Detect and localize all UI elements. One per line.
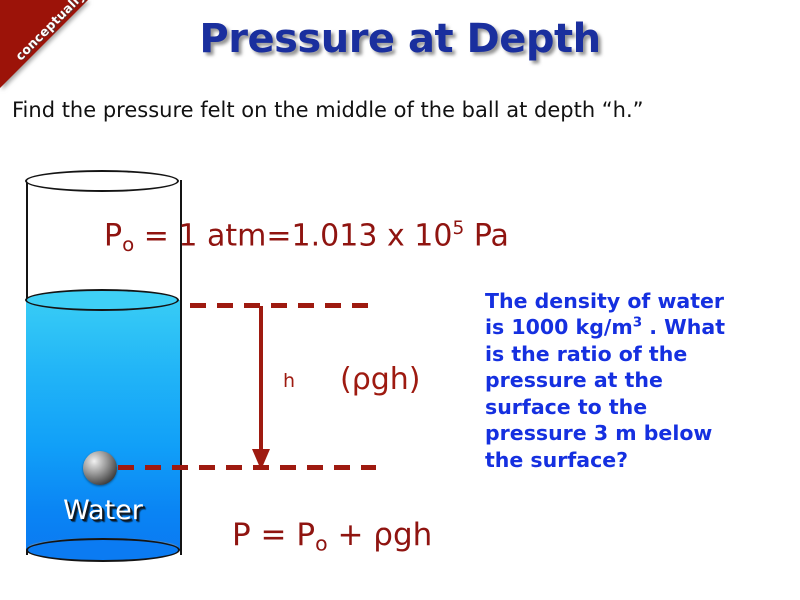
cylinder-top-rim (25, 170, 179, 192)
slide-canvas: conceptually Pressure at Depth Find the … (0, 0, 800, 600)
question-line-1: The density of water (485, 289, 724, 313)
equation-rhs: + ρgh (328, 517, 433, 553)
question-line-3: is the ratio of the (485, 342, 687, 366)
water-label: Water (25, 495, 181, 526)
page-title: Pressure at Depth (0, 16, 800, 62)
slide-subtitle: Find the pressure felt on the middle of … (12, 98, 792, 122)
question-line-2a: is 1000 kg/m (485, 315, 633, 339)
surface-pressure-equation: Po = 1 atm=1.013 x 105 Pa (104, 218, 509, 256)
depth-arrow-shaft (259, 306, 263, 454)
depth-reference-dashed-line (118, 465, 376, 470)
water-surface-ellipse (25, 289, 179, 311)
equation-body: = 1 atm=1.013 x 10 (134, 219, 452, 254)
question-line-6: pressure 3 m below (485, 421, 712, 445)
question-line-4: pressure at the (485, 368, 663, 392)
rho-g-h-term: (ρgh) (340, 362, 421, 397)
equation-unit: Pa (464, 219, 509, 254)
question-line-5: surface to the (485, 395, 647, 419)
submerged-ball (83, 451, 117, 485)
question-line-2-exponent: 3 (633, 315, 642, 331)
question-line-2b: . What (642, 315, 725, 339)
question-block: The density of water is 1000 kg/m3 . Wha… (485, 288, 790, 473)
equation-subscript: o (315, 532, 328, 556)
depth-pressure-equation: P = Po + ρgh (232, 517, 432, 556)
equation-subscript: o (122, 233, 134, 256)
equation-lhs: P (104, 219, 122, 254)
equation-lhs: P = P (232, 517, 315, 553)
cylinder-bottom-ellipse (26, 538, 180, 562)
equation-exponent: 5 (452, 218, 464, 239)
surface-reference-dashed-line (190, 303, 376, 308)
depth-arrow-head-icon (252, 449, 270, 470)
question-line-7: the surface? (485, 448, 628, 472)
depth-label: h (283, 370, 295, 392)
